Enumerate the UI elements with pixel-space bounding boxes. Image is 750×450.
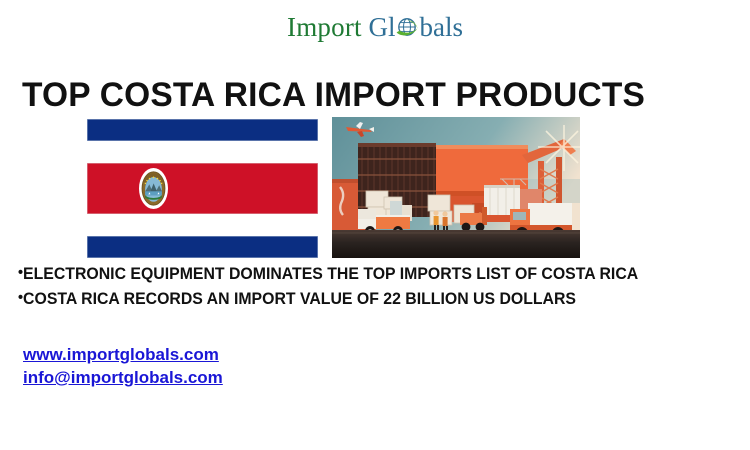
brand-word-globals-prefix: Gl bbox=[368, 12, 395, 42]
flag-stripe-white-bottom bbox=[87, 214, 318, 236]
shipping-port-photo bbox=[332, 117, 580, 258]
flag-stripe-white-top bbox=[87, 141, 318, 163]
bullet-marker: • bbox=[18, 260, 23, 285]
brand-word-globals-suffix: bals bbox=[419, 12, 463, 42]
contact-block: www.importglobals.com info@importglobals… bbox=[23, 343, 223, 389]
slide-page: Import Gl bals TOP COSTA RICA IMPORT PRO… bbox=[0, 0, 750, 450]
bullet-text: ELECTRONIC EQUIPMENT DOMINATES THE TOP I… bbox=[23, 265, 638, 283]
globe-swoosh-icon bbox=[394, 15, 420, 41]
flag-stripe-blue-top bbox=[87, 119, 318, 141]
flag-stripe-red-middle bbox=[87, 163, 318, 214]
flag-stripe-blue-bottom bbox=[87, 236, 318, 258]
costa-rica-flag bbox=[87, 119, 318, 258]
bullet-list: •ELECTRONIC EQUIPMENT DOMINATES THE TOP … bbox=[18, 262, 733, 312]
page-title: TOP COSTA RICA IMPORT PRODUCTS bbox=[22, 76, 717, 114]
brand-logo: Import Gl bals bbox=[0, 14, 750, 41]
website-link[interactable]: www.importglobals.com bbox=[23, 343, 223, 366]
email-link[interactable]: info@importglobals.com bbox=[23, 366, 223, 389]
list-item: •ELECTRONIC EQUIPMENT DOMINATES THE TOP … bbox=[18, 262, 704, 287]
bullet-marker: • bbox=[18, 285, 23, 310]
list-item: •COSTA RICA RECORDS AN IMPORT VALUE OF 2… bbox=[18, 287, 704, 312]
brand-word-import: Import bbox=[287, 12, 362, 42]
bullet-text: COSTA RICA RECORDS AN IMPORT VALUE OF 22… bbox=[23, 290, 576, 308]
costa-rica-coat-of-arms bbox=[138, 167, 169, 210]
